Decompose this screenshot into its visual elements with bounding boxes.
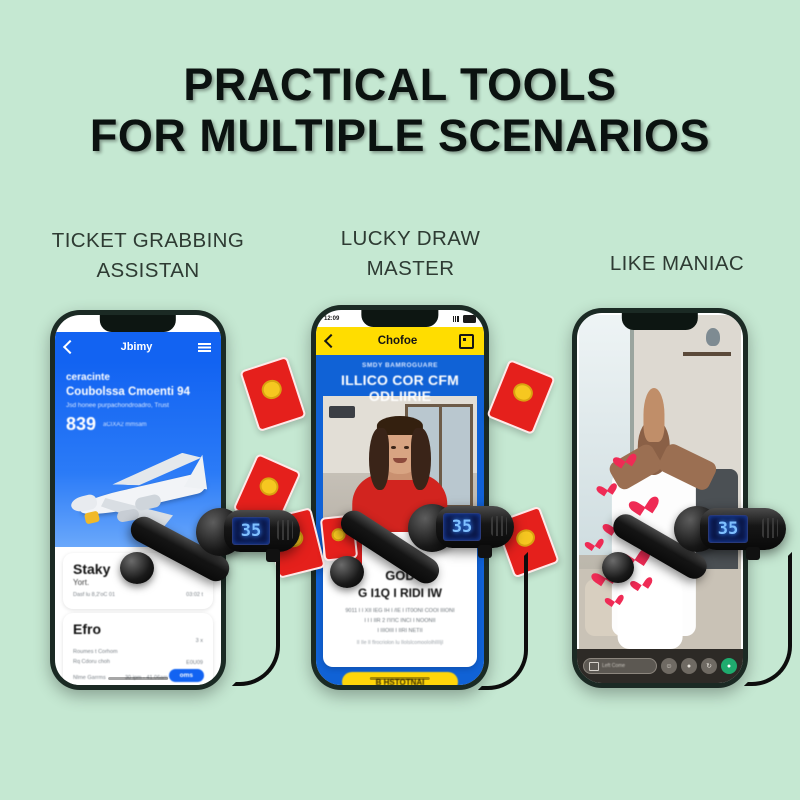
middle-header-title: Chofoe: [378, 335, 418, 347]
device-tap-tip: [602, 552, 634, 583]
phone-notch: [100, 315, 176, 332]
red-envelope-4: [486, 359, 556, 435]
live-action-bar: Left Come ☺ ● ↻ ●: [577, 649, 743, 683]
comment-input[interactable]: Left Come: [583, 658, 657, 674]
device-vents: [491, 516, 507, 536]
gift-icon[interactable]: ●: [681, 658, 697, 674]
chevron-left-icon[interactable]: [63, 340, 77, 354]
phone-right-screen: Left Come ☺ ● ↻ ●: [577, 313, 743, 683]
hero-price-note: aCIXA2 mmsam: [103, 422, 147, 428]
title-line-1: PRACTICAL TOOLS: [0, 62, 800, 107]
poster-canvas: PRACTICAL TOOLS FOR MULTIPLE SCENARIOS T…: [0, 0, 800, 800]
flight-card-2[interactable]: Efro Roumes t Corhom Rq Cdoru choh Nlme …: [63, 613, 213, 685]
scenario-caption-ticket-grabbing: TICKET GRABBING ASSISTAN: [28, 226, 268, 285]
airplane-livery-mark: [84, 511, 100, 525]
caption-line-1: LUCKY DRAW: [303, 224, 518, 254]
device-usb-plug: [478, 545, 492, 558]
scenario-caption-lucky-draw: LUCKY DRAW MASTER: [303, 224, 518, 283]
device-usb-plug: [746, 547, 760, 560]
card2-title: Efro: [73, 621, 101, 637]
phone-notch: [361, 310, 438, 327]
left-header-title: Jbimy: [121, 341, 153, 353]
signal-icon: [190, 321, 198, 327]
caption-line-1: LIKE MANIAC: [562, 249, 792, 279]
red-envelope-1: [239, 356, 306, 432]
card1-subtitle: Yort.: [73, 578, 89, 587]
card-line-2: I I I IIR 2 I'II'IC INCI I NOONII: [323, 618, 477, 624]
comment-box-icon: [589, 662, 599, 671]
phone-notch: [622, 313, 698, 330]
card2-right-mid: E0U09: [186, 660, 203, 666]
status-indicators: [453, 315, 476, 323]
hero-price: 839: [66, 414, 96, 435]
caption-line-2: MASTER: [303, 254, 518, 284]
feed-shelf: [683, 352, 732, 356]
feed-vase: [706, 328, 720, 346]
title-line-2: FOR MULTIPLE SCENARIOS: [0, 113, 800, 158]
status-indicators: [190, 320, 213, 328]
square-capture-icon[interactable]: [459, 334, 474, 349]
device-vents: [762, 518, 778, 538]
device-tap-tip: [330, 556, 364, 588]
chevron-left-icon[interactable]: [324, 334, 338, 348]
device-speed-value: 35: [452, 517, 472, 537]
caption-line-1: TICKET GRABBING: [28, 226, 268, 256]
card-line-3: I IIIOIII I IIRI NETII: [323, 628, 477, 634]
banner-subtitle: SMDY BAMROGUARE: [316, 362, 484, 369]
card2-action-button[interactable]: oms: [169, 669, 204, 682]
device-speed-value: 35: [241, 521, 261, 541]
card2-line-1: Roumes t Corhom: [73, 649, 118, 655]
left-app-header: Jbimy: [55, 332, 221, 362]
status-time: 9:41: [63, 321, 75, 327]
photo-shelf: [329, 406, 355, 418]
middle-app-header: Chofoe: [316, 327, 484, 355]
host-hair-right: [411, 428, 431, 490]
status-time: 12:09: [324, 316, 339, 322]
device-usb-plug: [266, 549, 280, 562]
scenario-caption-like-maniac: LIKE MANIAC: [562, 249, 792, 279]
floating-heart-1: [616, 449, 634, 467]
auto-clicker-device-right: 35: [600, 500, 790, 612]
signal-icon: [453, 316, 461, 322]
battery-icon: [463, 315, 476, 323]
battery-icon: [200, 320, 213, 328]
card1-title: Staky: [73, 561, 110, 577]
device-tap-tip: [120, 552, 154, 584]
streamer-hands: [643, 388, 664, 441]
hero-line-2: Coubolssa Cmoenti 94: [66, 386, 190, 398]
host-hair-left: [369, 428, 389, 490]
device-lcd-display: 35: [443, 513, 481, 541]
card2-line-3: Nlme Garrms: [73, 675, 106, 681]
banner-title: ILLICO COR CFM ODLIIRIE: [316, 372, 484, 404]
device-vents: [277, 520, 293, 540]
auto-clicker-device-middle: 35: [330, 500, 515, 615]
comment-placeholder: Left Come: [602, 663, 625, 669]
hero-line-1: ceracinte: [66, 372, 110, 383]
hero-line-3: Jsd honee purpachondroadro, Trust: [66, 402, 169, 409]
home-indicator: [108, 677, 168, 680]
phone-middle-screen: SMDY BAMROGUARE ILLICO COR CFM ODLIIRIE …: [316, 310, 484, 685]
hamburger-menu-icon[interactable]: [198, 343, 211, 352]
device-speed-value: 35: [718, 519, 738, 539]
live-shop-icon[interactable]: ●: [721, 658, 737, 674]
device-lcd-display: 35: [708, 515, 748, 543]
phone-middle-lucky-draw: SMDY BAMROGUARE ILLICO COR CFM ODLIIRIE …: [311, 305, 489, 690]
card2-line-2: Rq Cdoru choh: [73, 659, 110, 665]
page-title: PRACTICAL TOOLS FOR MULTIPLE SCENARIOS: [0, 62, 800, 158]
phone-right-like-maniac: Left Come ☺ ● ↻ ●: [572, 308, 748, 688]
card1-footer: Dasf lu 8,2'oC 01: [73, 592, 115, 598]
card-line-4: II IIe II fIrocriolon Iu IIoIsIcomooIoIh…: [323, 640, 477, 646]
device-lcd-display: 35: [232, 517, 270, 545]
floating-heart-2: [599, 479, 614, 494]
home-indicator: [370, 677, 430, 680]
caption-line-2: ASSISTAN: [28, 256, 268, 286]
floating-heart-5: [587, 535, 601, 549]
share-users-icon[interactable]: ☺: [661, 658, 677, 674]
refresh-icon[interactable]: ↻: [701, 658, 717, 674]
card2-right-top: 3 x: [196, 638, 203, 644]
auto-clicker-device-left: 35: [120, 500, 300, 610]
